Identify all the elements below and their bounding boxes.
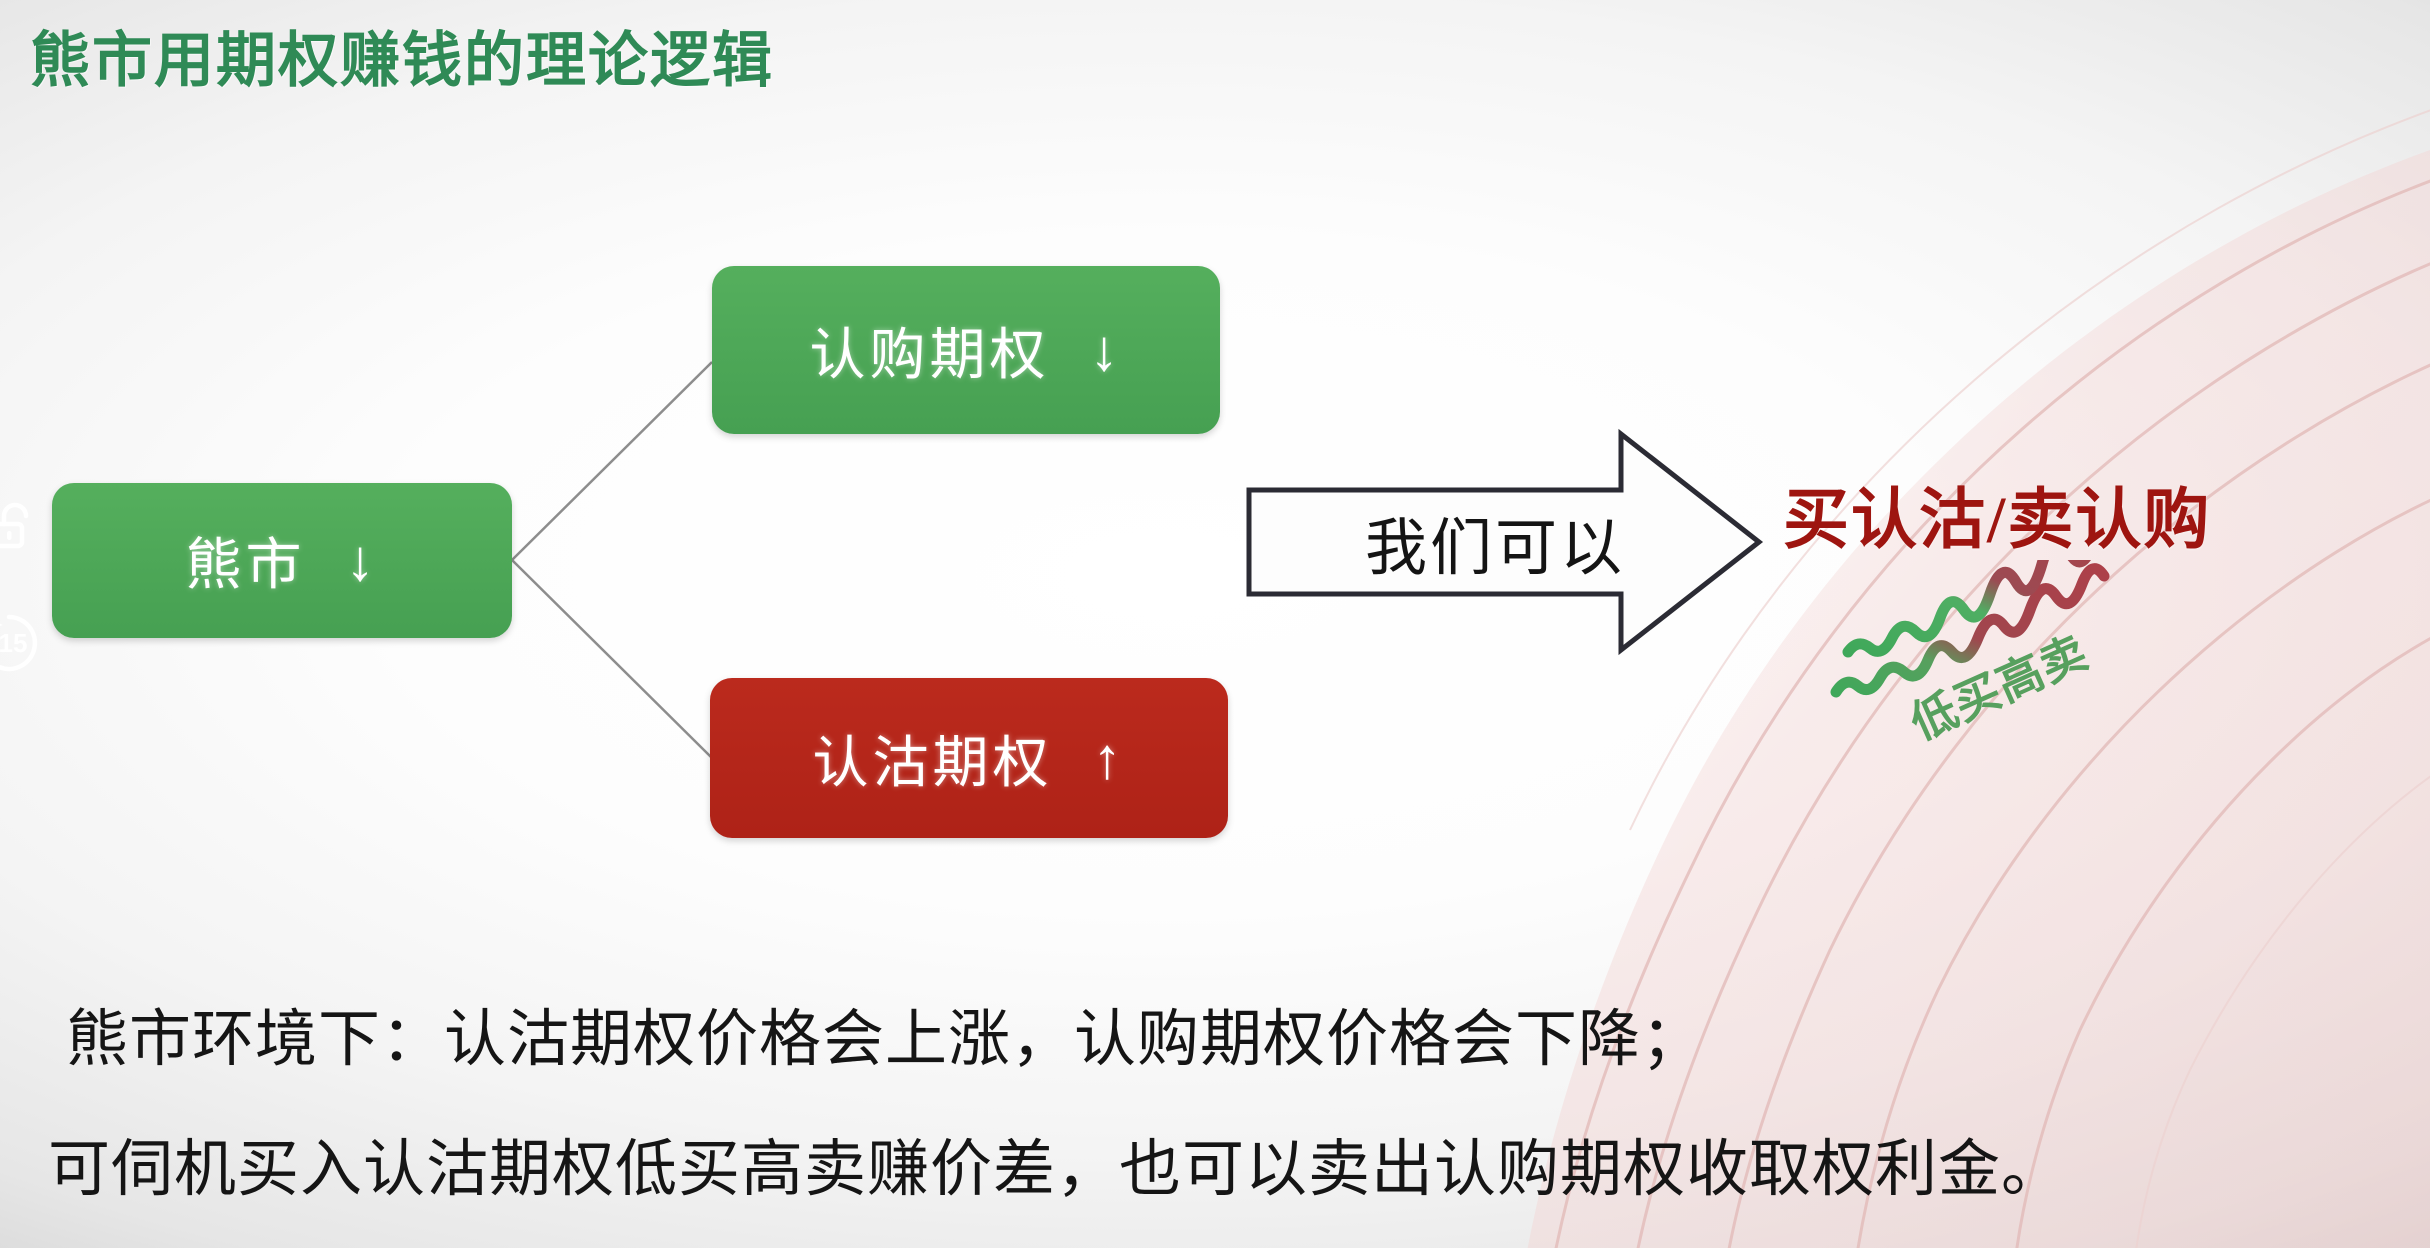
action-arrow-label: 我们可以	[1330, 478, 1660, 606]
bear-market-trend-arrow-icon: ↓	[346, 527, 379, 594]
put-option-trend-arrow-icon: ↑	[1093, 725, 1126, 792]
body-line-2: 可伺机买入认沽期权低买高卖赚价差，也可以卖出认购期权收取权利金。	[48, 1105, 2396, 1235]
call-option-box[interactable]: 认购期权 ↓	[712, 266, 1220, 434]
slide-title: 熊市用期权赚钱的理论逻辑	[30, 12, 774, 99]
bear-market-label: 熊市	[186, 520, 306, 601]
bear-market-box[interactable]: 熊市 ↓	[52, 483, 512, 638]
call-option-trend-arrow-icon: ↓	[1090, 317, 1123, 384]
action-block-arrow: 我们可以	[1244, 428, 1764, 656]
slide-canvas: 熊市用期权赚钱的理论逻辑 熊市 ↓ 认购期权 ↓ 认沽期权 ↑ 我们可以 买认沽…	[0, 0, 2430, 1248]
body-paragraph: 熊市环境下：认沽期权价格会上涨，认购期权价格会下降； 可伺机买入认沽期权低买高卖…	[66, 975, 2396, 1235]
put-option-box[interactable]: 认沽期权 ↑	[710, 678, 1228, 838]
conclusion-headline: 买认沽/卖认购	[1783, 466, 2211, 562]
put-option-label: 认沽期权	[813, 718, 1053, 799]
rewind-15-icon[interactable]: 15	[0, 608, 44, 678]
rewind-seconds-label: 15	[0, 608, 44, 678]
unlock-icon[interactable]	[0, 498, 44, 556]
body-line-1: 熊市环境下：认沽期权价格会上涨，认购期权价格会下降；	[66, 975, 2396, 1105]
call-option-label: 认购期权	[810, 310, 1050, 391]
